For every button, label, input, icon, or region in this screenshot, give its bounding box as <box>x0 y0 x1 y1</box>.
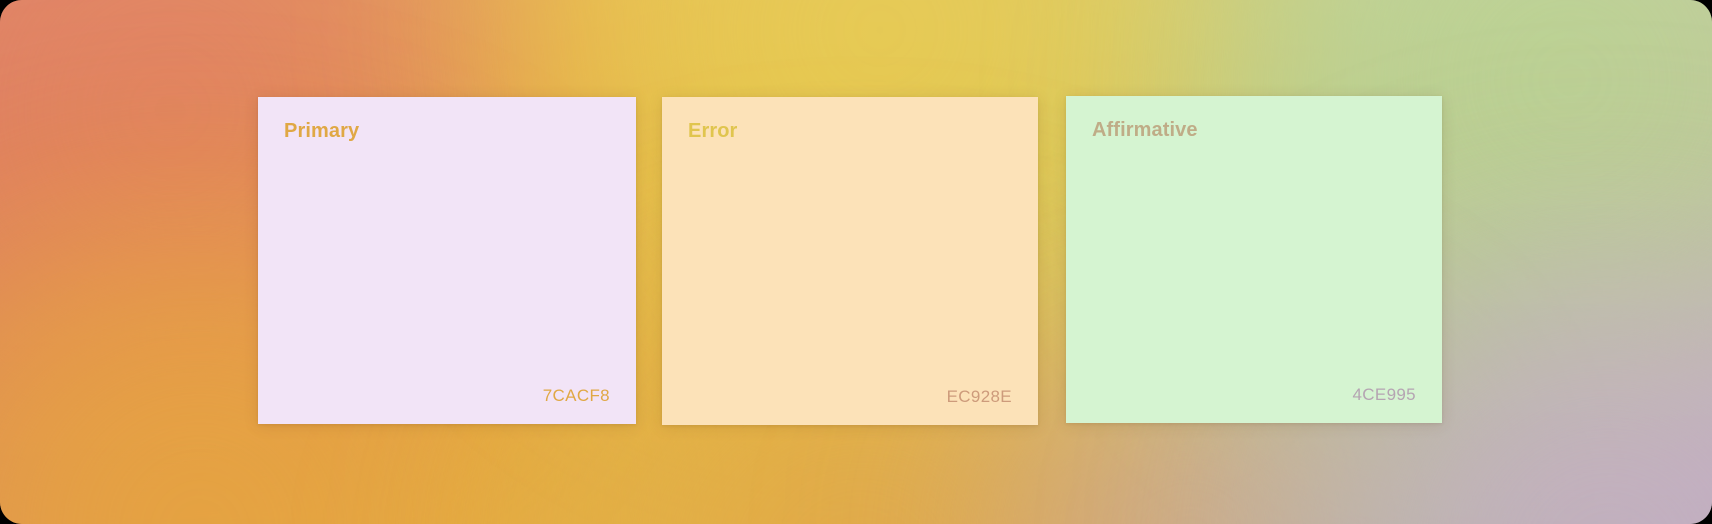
swatch-label: Error <box>688 121 1012 141</box>
swatch-hex-value: 7CACF8 <box>543 387 610 404</box>
swatch-card-primary[interactable]: Primary 7CACF8 <box>258 97 636 424</box>
swatch-card-error[interactable]: Error EC928E <box>662 97 1038 425</box>
swatch-label: Affirmative <box>1092 120 1416 140</box>
swatch-hex-value: EC928E <box>947 388 1012 405</box>
swatch-card-affirmative[interactable]: Affirmative 4CE995 <box>1066 96 1442 423</box>
swatch-label: Primary <box>284 121 610 141</box>
palette-canvas: Primary 7CACF8 Error EC928E Affirmative … <box>0 0 1712 524</box>
swatch-row: Primary 7CACF8 Error EC928E Affirmative … <box>0 0 1712 524</box>
swatch-hex-value: 4CE995 <box>1352 386 1416 403</box>
